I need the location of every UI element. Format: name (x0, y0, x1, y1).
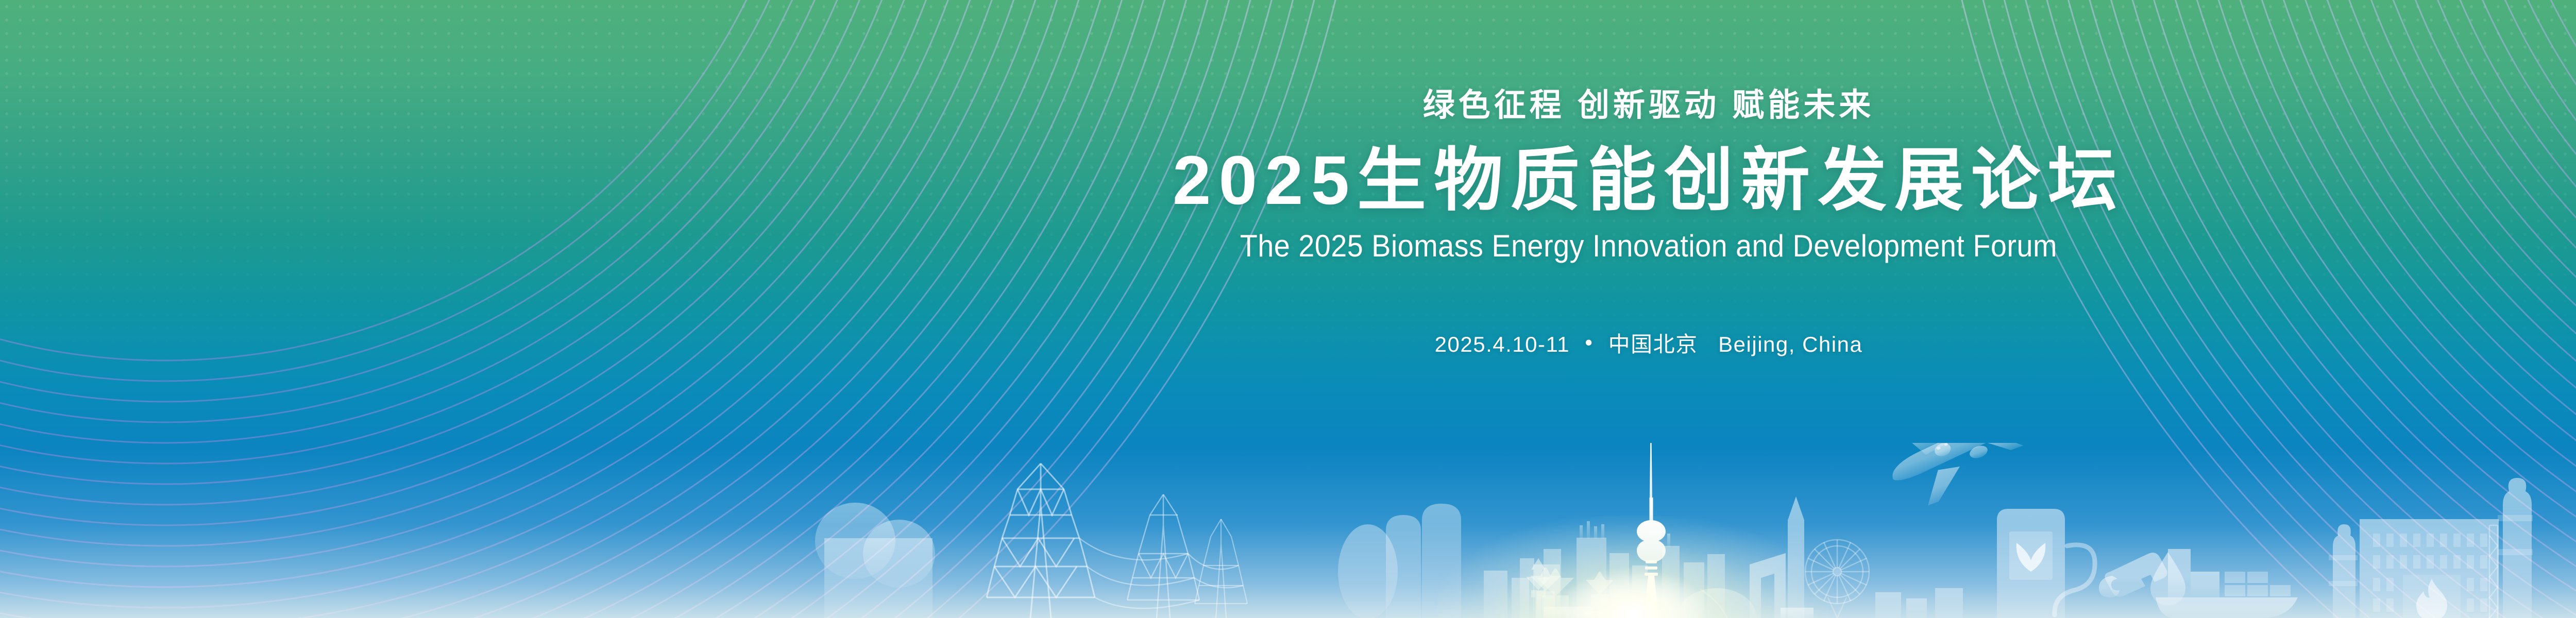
grain-silo (1338, 504, 1461, 618)
ferris-wheel (1805, 540, 1869, 618)
power-line (1079, 538, 1243, 608)
event-title-chinese: 2025生物质能创新发展论坛 (1173, 146, 2125, 215)
ev-charging-station (1997, 509, 2095, 618)
smokestack (2329, 478, 2533, 618)
power-transmission-tower (2489, 525, 2498, 618)
event-date-location: 2025.4.10-11 • 中国北京 Beijing, China (1435, 334, 1863, 355)
event-location-en: Beijing, China (1718, 332, 1862, 356)
bullet-separator-icon: • (1585, 332, 1593, 353)
dome-theatre (1676, 588, 1757, 618)
arc-rings-decoration (0, 0, 2576, 618)
temple-of-heaven (1530, 568, 1593, 618)
event-location-cn: 中国北京 (1608, 332, 1698, 356)
event-title-english: The 2025 Biomass Energy Innovation and D… (1240, 231, 2057, 262)
cargo-ship (2156, 549, 2298, 618)
arc-rings-left (0, 0, 1370, 618)
airplane (1876, 443, 2045, 513)
skyscraper (1750, 553, 1786, 618)
tree (815, 503, 935, 618)
event-date: 2025.4.10-11 (1435, 332, 1570, 356)
dot-pattern-overlay (0, 0, 2576, 391)
monument-obelisk (1781, 496, 1814, 618)
banner-text-block: 绿色征程 创新驱动 赋能未来 2025生物质能创新发展论坛 The 2025 B… (0, 0, 2576, 618)
power-transmission-tower (1195, 519, 1247, 618)
event-tagline: 绿色征程 创新驱动 赋能未来 (1423, 90, 1874, 122)
bottom-haze (0, 448, 2576, 618)
fuel-nozzle (2099, 553, 2167, 597)
center-glow-core (1556, 565, 1710, 618)
power-transmission-tower (1127, 494, 1199, 618)
skyscraper (1484, 564, 1560, 618)
biomass-power-plant (2360, 519, 2499, 618)
skyscraper (1520, 521, 1725, 618)
leaf-icon (2016, 543, 2046, 572)
oil-droplet (2150, 552, 2185, 606)
event-banner: 绿色征程 创新驱动 赋能未来 2025生物质能创新发展论坛 The 2025 B… (0, 0, 2576, 618)
pagoda (1526, 558, 1551, 618)
cctv-tower (1637, 443, 1666, 618)
center-glow (1437, 516, 1829, 618)
arc-rings-right (1927, 0, 2576, 618)
power-transmission-tower (987, 463, 1095, 618)
pagoda (1585, 572, 1634, 618)
skyscraper (1875, 588, 1963, 618)
skyline-silhouette-group (0, 443, 2576, 618)
flame-icon (2416, 579, 2447, 618)
